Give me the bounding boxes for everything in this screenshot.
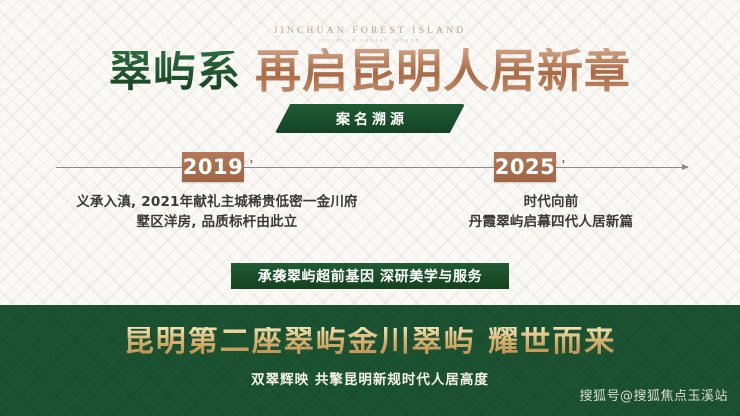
- brand-english-title: JINCHUAN FOREST ISLAND: [0, 26, 740, 36]
- promo-poster: JINCHUAN FOREST ISLAND JINCHUAN FOREST I…: [0, 0, 740, 416]
- main-title: 翠屿系 再启昆明人居新章: [0, 48, 740, 94]
- timeline-milestone-2019: 2019 ': [182, 152, 244, 182]
- timeline-milestone-2025: 2025 ': [494, 152, 556, 182]
- main-title-series: 翠屿系: [109, 51, 241, 94]
- footer-panel: 昆明第二座翠屿金川翠屿 耀世而来 双翠辉映 共擎昆明新规时代人居高度 搜狐号@搜…: [0, 305, 740, 416]
- brand-lockup: JINCHUAN FOREST ISLAND JINCHUAN FOREST I…: [0, 26, 740, 43]
- milestone-description-line: 时代向前: [420, 192, 682, 212]
- tagline-bar: 承袭翠屿超前基因 深研美学与服务: [231, 263, 509, 289]
- milestone-description-line: 丹霞翠屿启幕四代人居新篇: [420, 212, 682, 232]
- milestone-description-line: 义承入滇, 2021年献礼主城稀贵低密一金川府: [44, 192, 390, 212]
- main-title-slogan: 再启昆明人居新章: [255, 48, 631, 94]
- timeline-axis: [56, 167, 688, 168]
- tagline-text: 承袭翠屿超前基因 深研美学与服务: [258, 266, 482, 286]
- timeline-arrow-icon: [682, 164, 689, 170]
- milestone-year-label: 2019: [183, 155, 243, 179]
- section-badge-label: 案名溯源: [332, 109, 408, 129]
- milestone-2025-description: 时代向前 丹霞翠屿启幕四代人居新篇: [420, 192, 682, 232]
- milestone-tick-mark: ': [250, 157, 253, 172]
- footer-headline: 昆明第二座翠屿金川翠屿 耀世而来: [0, 327, 740, 357]
- source-watermark: 搜狐号@搜狐焦点玉溪站: [579, 385, 728, 404]
- brand-english-subtitle: JINCHUAN FOREST ISLAND: [0, 38, 740, 43]
- milestone-year-label: 2025: [495, 155, 555, 179]
- milestone-description-line: 墅区洋房, 品质标杆由此立: [44, 212, 390, 232]
- milestone-tick-mark: ': [562, 157, 565, 172]
- section-badge: 案名溯源: [275, 104, 465, 133]
- milestone-2019-description: 义承入滇, 2021年献礼主城稀贵低密一金川府 墅区洋房, 品质标杆由此立: [44, 192, 390, 232]
